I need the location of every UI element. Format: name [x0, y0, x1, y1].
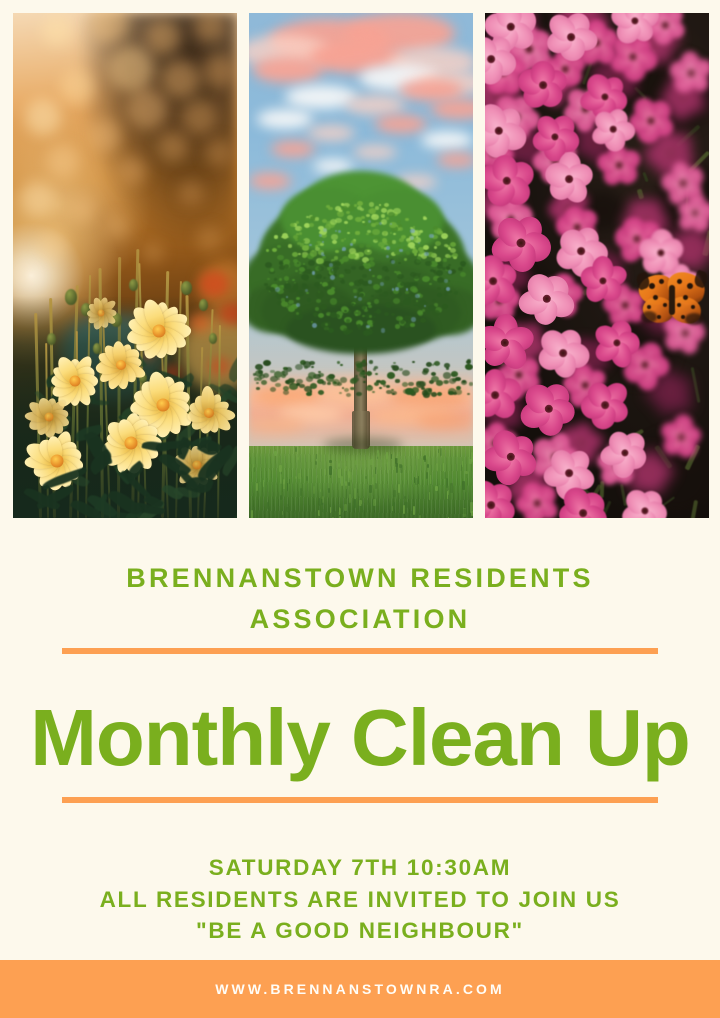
website-url: WWW.BRENNANSTOWNRA.COM	[215, 981, 505, 997]
organization-line-1: BRENNANSTOWN RESIDENTS	[0, 558, 720, 599]
divider-top	[62, 648, 658, 654]
organization-name: BRENNANSTOWN RESIDENTS ASSOCIATION	[0, 558, 720, 640]
divider-bottom	[62, 797, 658, 803]
event-slogan: "BE A GOOD NEIGHBOUR"	[0, 915, 720, 947]
organization-line-2: ASSOCIATION	[0, 599, 720, 640]
event-datetime: SATURDAY 7TH 10:30AM	[0, 852, 720, 884]
event-invitation: ALL RESIDENTS ARE INVITED TO JOIN US	[0, 884, 720, 916]
photo-panel-phlox	[485, 13, 709, 518]
photo-strip	[13, 13, 708, 518]
photo-panel-dahlias	[13, 13, 237, 518]
footer-bar: WWW.BRENNANSTOWNRA.COM	[0, 960, 720, 1018]
event-details: SATURDAY 7TH 10:30AM ALL RESIDENTS ARE I…	[0, 852, 720, 947]
poster: BRENNANSTOWN RESIDENTS ASSOCIATION Month…	[0, 0, 720, 1018]
photo-panel-tree	[249, 13, 473, 518]
page-title: Monthly Clean Up	[0, 692, 720, 784]
